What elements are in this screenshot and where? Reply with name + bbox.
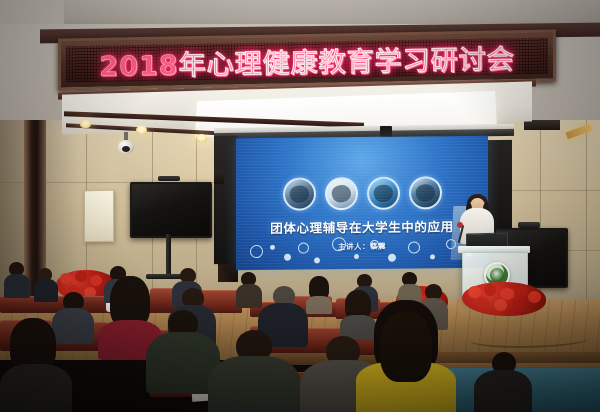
- led-banner-text: 2018年心理健康教育学习研讨会: [99, 38, 514, 83]
- spotlight-icon: [196, 134, 207, 142]
- photo-badge-2-icon: [325, 177, 358, 210]
- wall-speaker-icon: [214, 170, 224, 184]
- audience-person: [208, 330, 300, 412]
- audience-person-yellow-coat: [356, 300, 456, 412]
- wall-seam: [586, 120, 587, 320]
- photo-badge-3-icon: [367, 177, 400, 210]
- slide-icon-row: [236, 176, 488, 211]
- spotlight-icon: [80, 120, 91, 128]
- tv-left-stand: [166, 234, 171, 276]
- spotlight-icon: [136, 126, 147, 134]
- auditorium-photo: 2018年心理健康教育学习研讨会 团体心理辅导在大学生中的应用 主讲人：蔡震: [0, 0, 600, 412]
- whiteboard-panel: [84, 190, 114, 243]
- tv-left-screen: [130, 182, 212, 238]
- photo-badge-1-icon: [283, 177, 316, 210]
- emblem-inner: [490, 268, 504, 282]
- led-banner-screen: 2018年心理健康教育学习研讨会: [66, 38, 548, 83]
- audience-person: [4, 262, 30, 296]
- photo-badge-4-icon: [409, 176, 442, 209]
- slide-title: 团体心理辅导在大学生中的应用: [236, 216, 488, 237]
- audience-person: [0, 318, 72, 412]
- camera-lens: [122, 146, 130, 152]
- tv-left: [130, 182, 208, 234]
- screen-border-left: [214, 136, 238, 264]
- tv-right-top-cap: [518, 222, 540, 228]
- dome-camera-icon: [118, 132, 134, 154]
- audience-person: [474, 352, 532, 412]
- microphone-head-icon: [457, 222, 463, 228]
- flower-arrangement: [462, 282, 546, 316]
- audience-person: [306, 276, 332, 308]
- tv-left-top-cap: [158, 176, 180, 181]
